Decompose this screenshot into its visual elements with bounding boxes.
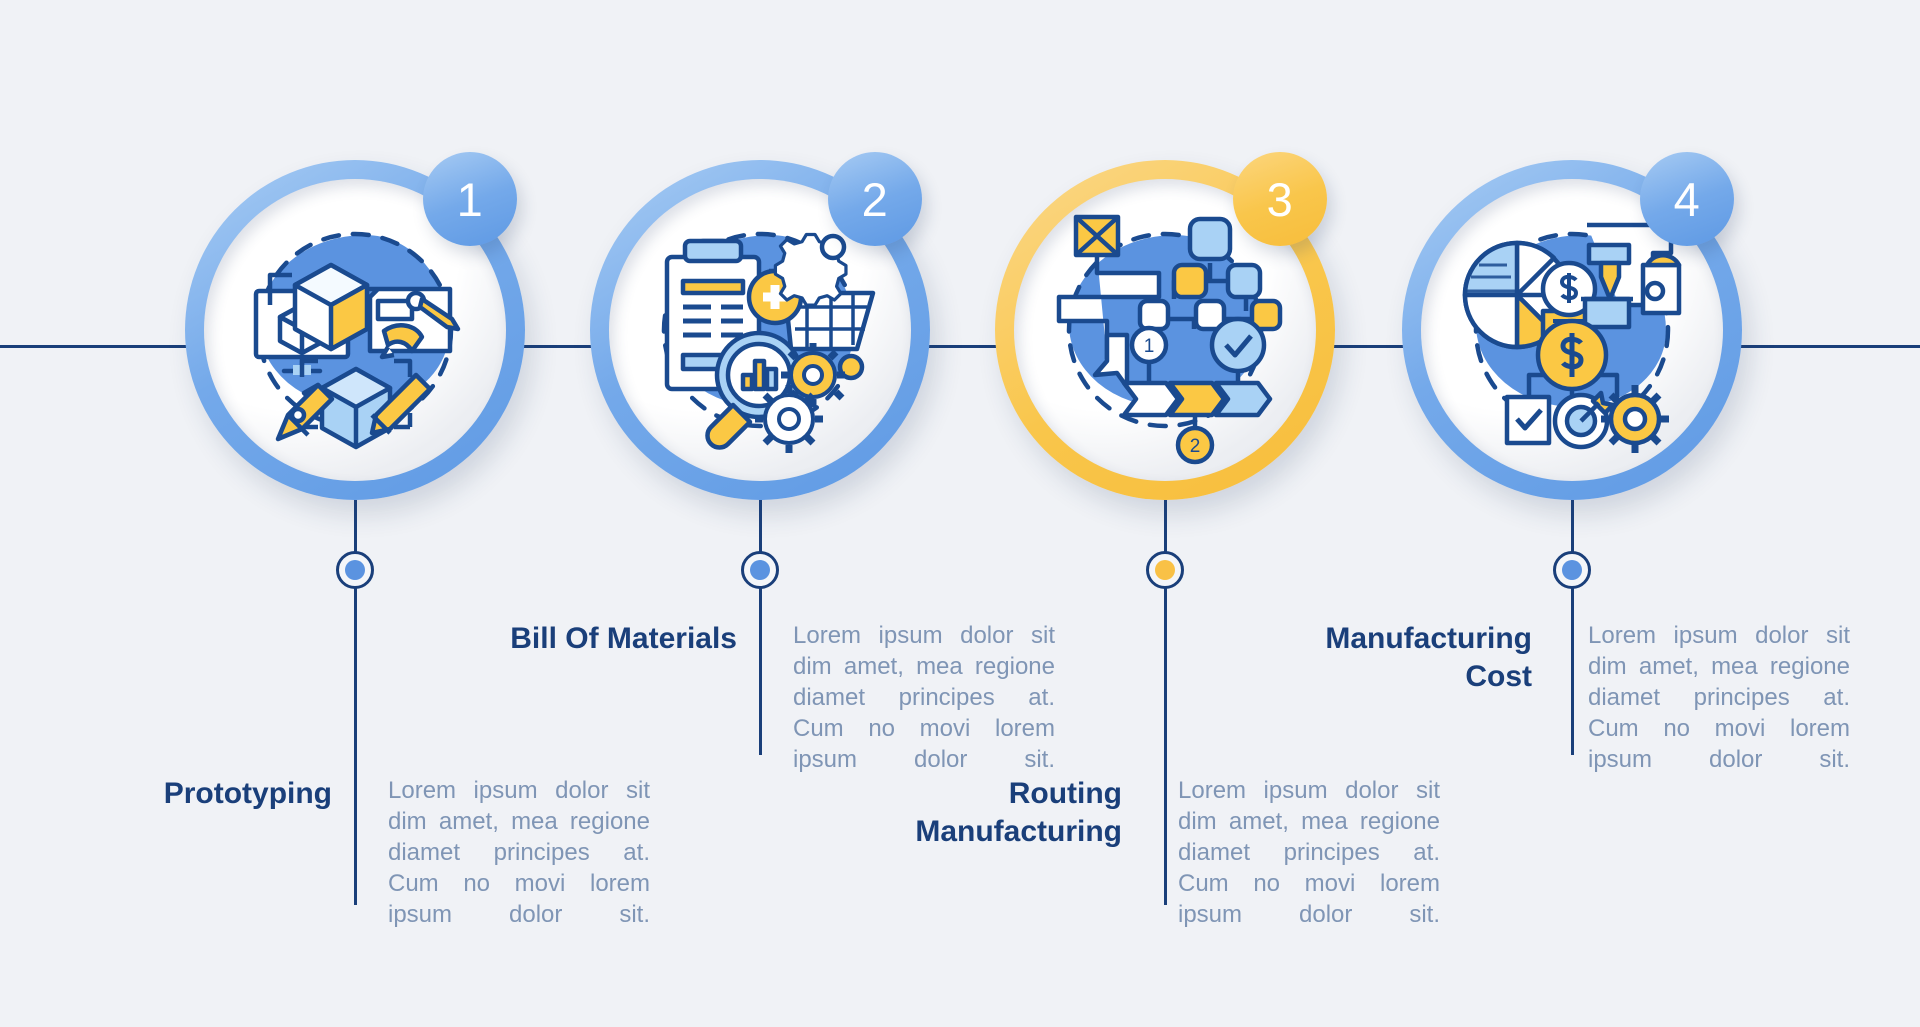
- step-1-dot[interactable]: [336, 551, 374, 589]
- step-4-title: Manufacturing Cost: [1305, 620, 1560, 696]
- step-1-number-badge: 1: [423, 152, 517, 246]
- step-1-title: Prototyping: [105, 775, 360, 813]
- step-4-description: Lorem ipsum dolor sit dim amet, mea regi…: [1560, 620, 1850, 775]
- infographic-canvas: 1 Prototyping Lorem ipsum dolor sit dim …: [0, 0, 1920, 1027]
- step-1-dot-core: [345, 560, 365, 580]
- step-3-text: Routing Manufacturing Lorem ipsum dolor …: [895, 775, 1440, 930]
- step-3-dot-core: [1155, 560, 1175, 580]
- step-4-text: Manufacturing Cost Lorem ipsum dolor sit…: [1305, 620, 1850, 775]
- step-2-dot-core: [750, 560, 770, 580]
- step-2-number-badge: 2: [828, 152, 922, 246]
- svg-text:2: 2: [1190, 436, 1201, 457]
- step-3-number: 3: [1267, 172, 1294, 227]
- step-2-title: Bill Of Materials: [510, 620, 765, 658]
- step-3-title: Routing Manufacturing: [895, 775, 1150, 851]
- step-4-dot-core: [1562, 560, 1582, 580]
- step-3-number-badge: 3: [1233, 152, 1327, 246]
- step-4-number-badge: 4: [1640, 152, 1734, 246]
- step-1-description: Lorem ipsum dolor sit dim amet, mea regi…: [360, 775, 650, 930]
- step-2-number: 2: [862, 172, 889, 227]
- step-1-text: Prototyping Lorem ipsum dolor sit dim am…: [105, 775, 650, 930]
- step-1-number: 1: [457, 172, 484, 227]
- step-3-description: Lorem ipsum dolor sit dim amet, mea regi…: [1150, 775, 1440, 930]
- svg-text:1: 1: [1144, 336, 1155, 357]
- step-2-text: Bill Of Materials Lorem ipsum dolor sit …: [510, 620, 1055, 775]
- step-2-dot[interactable]: [741, 551, 779, 589]
- step-4-number: 4: [1674, 172, 1701, 227]
- step-2-description: Lorem ipsum dolor sit dim amet, mea regi…: [765, 620, 1055, 775]
- step-3-dot[interactable]: [1146, 551, 1184, 589]
- step-4-dot[interactable]: [1553, 551, 1591, 589]
